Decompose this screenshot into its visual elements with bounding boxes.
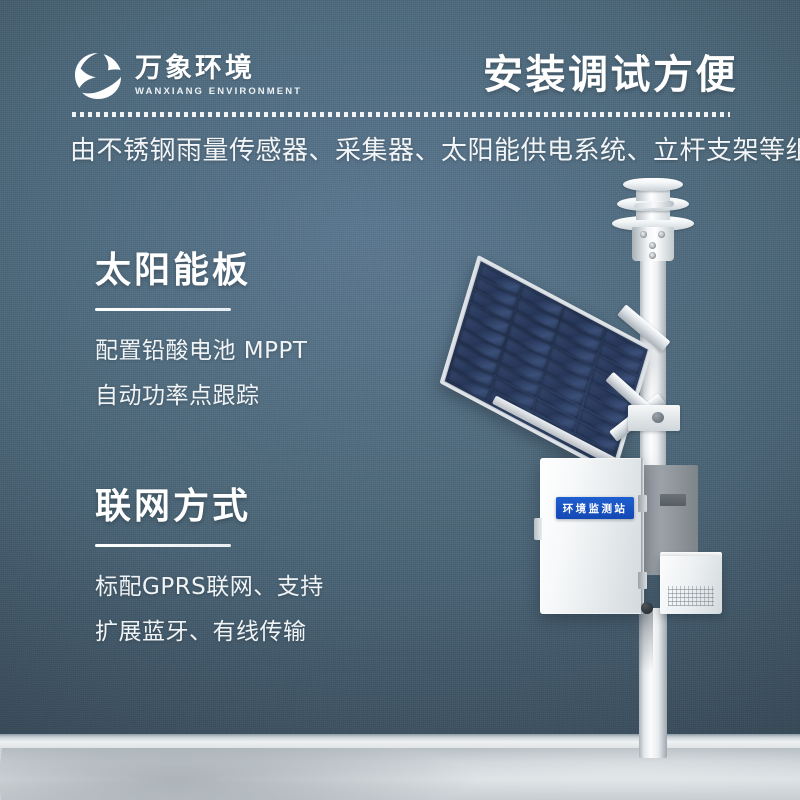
page-subtitle: 由不锈钢雨量传感器、采集器、太阳能供电系统、立杆支架等组成 [70, 130, 770, 167]
brand-logo[interactable]: 万象环境 WANXIANG ENVIRONMENT [72, 50, 302, 102]
page-headline: 安装调试方便 [483, 42, 738, 100]
feature-line: 自动功率点跟踪 [95, 374, 307, 419]
wanxiang-swoosh-logo-icon [72, 50, 124, 102]
feature-line: 扩展蓝牙、有线传输 [95, 610, 324, 655]
feature-block-network: 联网方式 标配GPRS联网、支持 扩展蓝牙、有线传输 [95, 488, 324, 655]
poster-stage: 环境监测站 万象环境 WANXIANG ENVIRONMENT 安装调试方便 由… [0, 0, 800, 800]
feature-line: 标配GPRS联网、支持 [95, 565, 324, 610]
baseboard-strip [0, 734, 800, 748]
floor-surface [0, 748, 800, 800]
feature-block-solar-panel: 太阳能板 配置铅酸电池 MPPT 自动功率点跟踪 [95, 252, 307, 419]
feature-title: 联网方式 [95, 488, 324, 527]
dotted-divider [72, 112, 730, 117]
floor-texture [0, 748, 800, 800]
brand-name-cn: 万象环境 [135, 55, 302, 83]
feature-rule [95, 308, 231, 311]
feature-title: 太阳能板 [95, 252, 307, 291]
brand-name-en: WANXIANG ENVIRONMENT [135, 86, 302, 97]
feature-line: 配置铅酸电池 MPPT [95, 329, 307, 374]
feature-rule [95, 544, 231, 547]
